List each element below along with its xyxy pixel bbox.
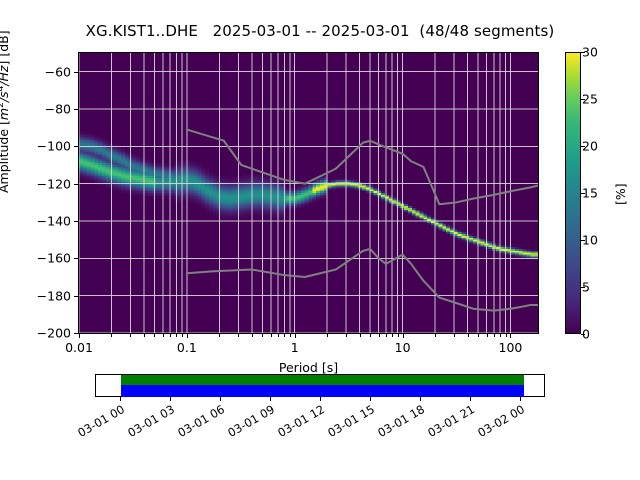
x-tick-label: 100	[499, 340, 523, 355]
y-tick-mark	[74, 72, 78, 73]
colorbar-label: [%]	[613, 183, 628, 205]
x-tick-mark-minor	[262, 334, 263, 337]
ppsd-figure: XG.KIST1..DHE 2025-03-01 -- 2025-03-01 (…	[0, 0, 640, 480]
ppsd-density-cells	[79, 131, 538, 260]
x-tick-mark-minor	[271, 334, 272, 337]
x-tick-mark-minor	[360, 334, 361, 337]
timeline-tick-label: 03-01 15	[316, 402, 377, 445]
x-tick-mark-minor	[144, 334, 145, 337]
x-tick-mark-major	[79, 334, 80, 338]
x-tick-mark-minor	[182, 334, 183, 337]
x-tick-mark-minor	[386, 334, 387, 337]
x-tick-mark-minor	[176, 334, 177, 337]
timeline-tick-mark	[520, 397, 521, 401]
timeline-tick-label: 03-02 00	[466, 402, 527, 445]
x-tick-mark-minor	[290, 334, 291, 337]
x-tick-mark-minor	[370, 334, 371, 337]
timeline-tick-label: 03-01 00	[66, 402, 127, 445]
x-tick-mark-minor	[163, 334, 164, 337]
ppsd-canvas	[79, 53, 538, 333]
y-tick-label: −100	[37, 139, 71, 154]
timeline-tick-mark	[170, 397, 171, 401]
y-tick-label: −200	[37, 326, 71, 341]
x-tick-mark-minor	[252, 334, 253, 337]
x-tick-mark-minor	[346, 334, 347, 337]
x-tick-mark-minor	[379, 334, 380, 337]
timeline-tick-label: 03-01 18	[366, 402, 427, 445]
x-tick-mark-minor	[500, 334, 501, 337]
colorbar-tick-label: 5	[582, 280, 590, 295]
colorbar-tick-label: 20	[582, 139, 598, 154]
x-tick-mark-minor	[154, 334, 155, 337]
timeline-tick-label: 03-01 03	[116, 402, 177, 445]
x-tick-mark-minor	[435, 334, 436, 337]
y-tick-mark	[74, 184, 78, 185]
x-tick-mark-minor	[327, 334, 328, 337]
x-axis-label: Period [s]	[279, 360, 338, 375]
ppsd-plot-area[interactable]	[78, 52, 539, 334]
timeline-data-bar	[121, 375, 524, 385]
y-tick-label: −180	[37, 288, 71, 303]
x-tick-mark-major	[510, 334, 511, 338]
colorbar-tick-label: 30	[582, 45, 598, 60]
y-tick-mark	[74, 109, 78, 110]
x-tick-mark-minor	[130, 334, 131, 337]
timeline-tick-mark	[220, 397, 221, 401]
timeline-tick-mark	[270, 397, 271, 401]
colorbar-tick-label: 15	[582, 186, 598, 201]
x-tick-label: 0.01	[65, 340, 93, 355]
colorbar-tick-label: 25	[582, 92, 598, 107]
x-tick-mark-minor	[238, 334, 239, 337]
x-tick-mark-minor	[468, 334, 469, 337]
y-axis-label: Amplitude [m2/s4/Hz] [dB]	[0, 30, 11, 193]
x-tick-mark-minor	[478, 334, 479, 337]
x-tick-mark-minor	[454, 334, 455, 337]
timeline-psd-bar	[121, 385, 524, 397]
x-tick-mark-major	[403, 334, 404, 338]
x-tick-label: 0.1	[177, 340, 197, 355]
timeline-tick-mark	[320, 397, 321, 401]
x-tick-mark-minor	[278, 334, 279, 337]
x-tick-mark-major	[187, 334, 188, 338]
y-tick-label: −80	[45, 102, 71, 117]
y-tick-mark	[74, 258, 78, 259]
page-title: XG.KIST1..DHE 2025-03-01 -- 2025-03-01 (…	[0, 22, 640, 40]
timeline-tick-mark	[120, 397, 121, 401]
x-tick-mark-minor	[284, 334, 285, 337]
x-tick-label: 10	[395, 340, 411, 355]
y-tick-label: −140	[37, 214, 71, 229]
y-tick-mark	[74, 296, 78, 297]
y-tick-mark	[74, 221, 78, 222]
y-tick-label: −60	[45, 64, 71, 79]
x-tick-mark-minor	[219, 334, 220, 337]
colorbar-tick-label: 10	[582, 233, 598, 248]
timeline-strip[interactable]	[95, 374, 545, 397]
timeline-tick-label: 03-01 12	[266, 402, 327, 445]
x-tick-mark-minor	[111, 334, 112, 337]
x-tick-mark-minor	[392, 334, 393, 337]
x-tick-mark-minor	[487, 334, 488, 337]
y-tick-mark	[74, 333, 78, 334]
timeline-tick-mark	[470, 397, 471, 401]
timeline-tick-mark	[370, 397, 371, 401]
timeline-tick-label: 03-01 06	[166, 402, 227, 445]
y-tick-mark	[74, 146, 78, 147]
x-tick-label: 1	[291, 340, 299, 355]
x-tick-mark-minor	[506, 334, 507, 337]
timeline-tick-mark	[420, 397, 421, 401]
ppsd-histogram-svg	[79, 53, 538, 333]
colorbar-tick-label: 0	[582, 327, 590, 342]
y-tick-label: −120	[37, 176, 71, 191]
x-tick-mark-minor	[170, 334, 171, 337]
x-tick-mark-minor	[398, 334, 399, 337]
colorbar	[565, 52, 581, 334]
timeline-tick-label: 03-01 21	[416, 402, 477, 445]
x-tick-mark-minor	[494, 334, 495, 337]
y-tick-label: −160	[37, 251, 71, 266]
timeline-tick-label: 03-01 09	[216, 402, 277, 445]
x-tick-mark-major	[295, 334, 296, 338]
